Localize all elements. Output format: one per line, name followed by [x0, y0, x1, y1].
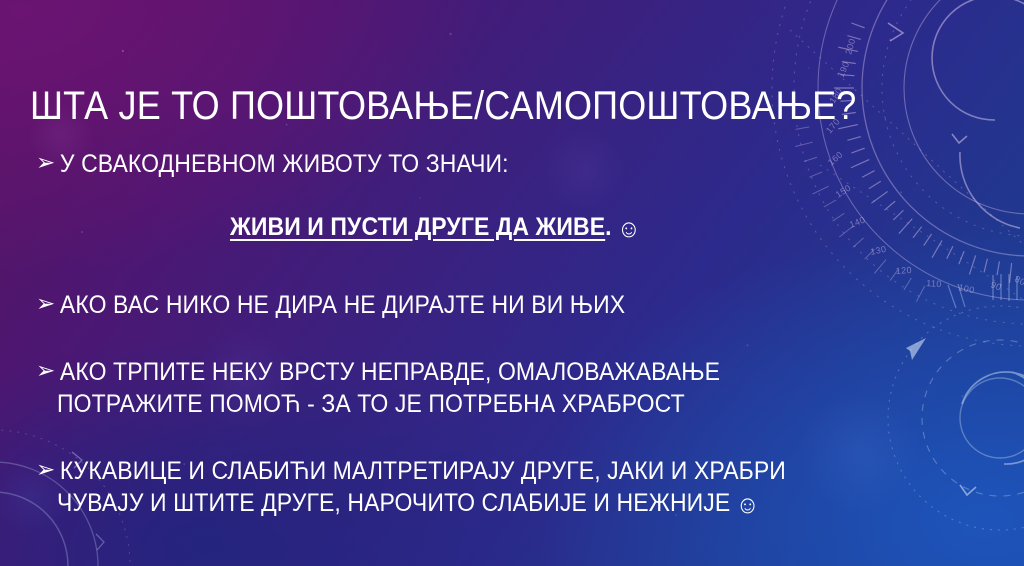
- bullet-item-1: ➢ У СВАКОДНЕВНОМ ЖИВОТУ ТО ЗНАЧИ:: [0, 148, 1024, 181]
- spacer: [0, 181, 1024, 211]
- bullet-4-line-1: КУКАВИЦЕ И СЛАБИЋИ МАЛТРЕТИРАЈУ ДРУГЕ, Ј…: [36, 455, 786, 488]
- bullet-3-line-2: ПОТРАЖИТЕ ПОМОЋ - ЗА ТО ЈЕ ПОТРЕБНА ХРАБ…: [0, 388, 942, 421]
- dial-tick-label: 190: [836, 60, 852, 79]
- smiley-face-icon: ☺: [617, 217, 641, 242]
- bullet-4-line-2-wrap: ЧУВАЈУ И ШТИТЕ ДРУГЕ, НАРОЧИТО СЛАБИЈЕ И…: [0, 487, 942, 520]
- bullet-4-row: КУКАВИЦЕ И СЛАБИЋИ МАЛТРЕТИРАЈУ ДРУГЕ, Ј…: [0, 455, 1024, 488]
- bullet-2-row: АКО ВАС НИКО НЕ ДИРА НЕ ДИРАЈТЕ НИ ВИ ЊИ…: [0, 289, 1024, 322]
- emphasis-suffix: .: [605, 213, 611, 241]
- bullet-3-row: АКО ТРПИТЕ НЕКУ ВРСТУ НЕПРАВДЕ, ОМАЛОВАЖ…: [0, 356, 1024, 389]
- slide-title: ШТА ЈЕ ТО ПОШТОВАЊЕ/САМОПОШТОВАЊЕ?: [30, 85, 876, 128]
- spacer: [0, 243, 1024, 289]
- bullet-2-line-1: АКО ВАС НИКО НЕ ДИРА НЕ ДИРАЈТЕ НИ ВИ ЊИ…: [36, 289, 625, 322]
- bullet-1-line-1: У СВАКОДНЕВНОМ ЖИВОТУ ТО ЗНАЧИ:: [36, 148, 509, 181]
- bullet-1-row: У СВАКОДНЕВНОМ ЖИВОТУ ТО ЗНАЧИ:: [0, 148, 1024, 181]
- bullet-item-4: ➢ КУКАВИЦЕ И СЛАБИЋИ МАЛТРЕТИРАЈУ ДРУГЕ,…: [0, 455, 1024, 520]
- slide-body: ➢ У СВАКОДНЕВНОМ ЖИВОТУ ТО ЗНАЧИ: ЖИВИ И…: [0, 148, 1024, 520]
- bullet-3-line-1: АКО ТРПИТЕ НЕКУ ВРСТУ НЕПРАВДЕ, ОМАЛОВАЖ…: [36, 356, 720, 389]
- bullet-4-line-2: ЧУВАЈУ И ШТИТЕ ДРУГЕ, НАРОЧИТО СЛАБИЈЕ И…: [57, 489, 730, 517]
- spacer: [0, 421, 1024, 455]
- bullet-item-2: ➢ АКО ВАС НИКО НЕ ДИРА НЕ ДИРАЈТЕ НИ ВИ …: [0, 289, 1024, 322]
- smiley-face-icon: ☺: [736, 493, 760, 518]
- emphasis-underlined-text: ЖИВИ И ПУСТИ ДРУГЕ ДА ЖИВЕ: [230, 213, 605, 241]
- emphasis-line-content: ЖИВИ И ПУСТИ ДРУГЕ ДА ЖИВЕ.☺: [0, 211, 942, 244]
- dial-tick-label: 200: [843, 37, 857, 55]
- slide-canvas: 200 190 180 170 160 150 140 130 120 110 …: [0, 0, 1024, 566]
- spacer: [0, 322, 1024, 356]
- emphasis-line: ЖИВИ И ПУСТИ ДРУГЕ ДА ЖИВЕ.☺: [0, 211, 1024, 244]
- bullet-item-3: ➢ АКО ТРПИТЕ НЕКУ ВРСТУ НЕПРАВДЕ, ОМАЛОВ…: [0, 356, 1024, 421]
